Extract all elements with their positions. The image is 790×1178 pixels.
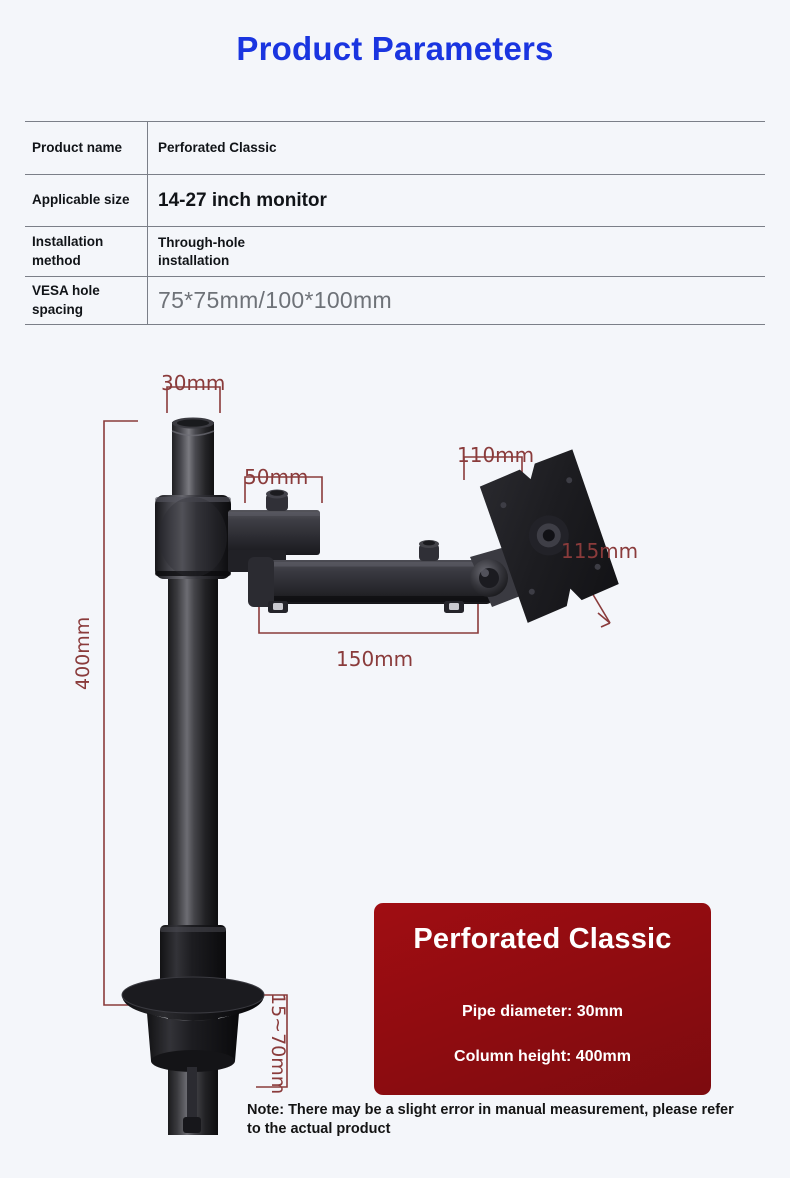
table-row: Applicable size 14-27 inch monitor <box>25 174 765 226</box>
spec-table: Product name Perforated Classic Applicab… <box>25 121 765 325</box>
spec-value-text: 75*75mm/100*100mm <box>158 287 392 314</box>
spec-value-line2: installation <box>158 252 245 270</box>
dimension-label-bracket-width: 50mm <box>244 465 308 489</box>
spec-value-text: 14-27 inch monitor <box>158 190 327 212</box>
spec-value-product-name: Perforated Classic <box>148 122 765 174</box>
spec-label-line2: spacing <box>32 301 100 319</box>
dimension-label-column-height: 400mm <box>72 617 94 690</box>
spec-value-line1: Through-hole <box>158 234 245 252</box>
spec-value-installation-method: Through-hole installation <box>148 227 765 276</box>
spec-label-line1: Installation <box>32 233 103 251</box>
measurement-note: Note: There may be a slight error in man… <box>247 1101 747 1140</box>
grommet-base <box>122 925 264 1133</box>
dimension-label-arm-length: 150mm <box>336 647 413 671</box>
table-row: Installation method Through-hole install… <box>25 226 765 276</box>
spec-value-text: Perforated Classic <box>158 139 277 157</box>
spec-label-installation-method: Installation method <box>25 227 148 276</box>
dimension-label-vesa-plate-height: 115mm <box>561 539 638 563</box>
dimension-label-desk-thickness: 15~70mm <box>267 993 289 1094</box>
spec-value-vesa-hole-spacing: 75*75mm/100*100mm <box>148 277 765 324</box>
product-callout-box: Perforated Classic Pipe diameter: 30mm C… <box>374 903 711 1095</box>
spec-label-line1: VESA hole <box>32 282 100 300</box>
dimension-label-pipe-diameter: 30mm <box>161 371 225 395</box>
callout-title: Perforated Classic <box>374 923 711 956</box>
spec-value-applicable-size: 14-27 inch monitor <box>148 175 765 226</box>
table-row: Product name Perforated Classic <box>25 121 765 174</box>
spec-label-vesa-hole-spacing: VESA hole spacing <box>25 277 148 324</box>
callout-column-height: Column height: 400mm <box>374 1048 711 1066</box>
dimension-label-vesa-plate-width: 110mm <box>457 443 534 467</box>
callout-pipe-diameter: Pipe diameter: 30mm <box>374 1003 711 1021</box>
table-row: VESA hole spacing 75*75mm/100*100mm <box>25 276 765 325</box>
page-title: Product Parameters <box>0 30 790 68</box>
spec-label-line2: method <box>32 252 103 270</box>
spec-label-applicable-size: Applicable size <box>25 175 148 226</box>
spec-label-product-name: Product name <box>25 122 148 174</box>
